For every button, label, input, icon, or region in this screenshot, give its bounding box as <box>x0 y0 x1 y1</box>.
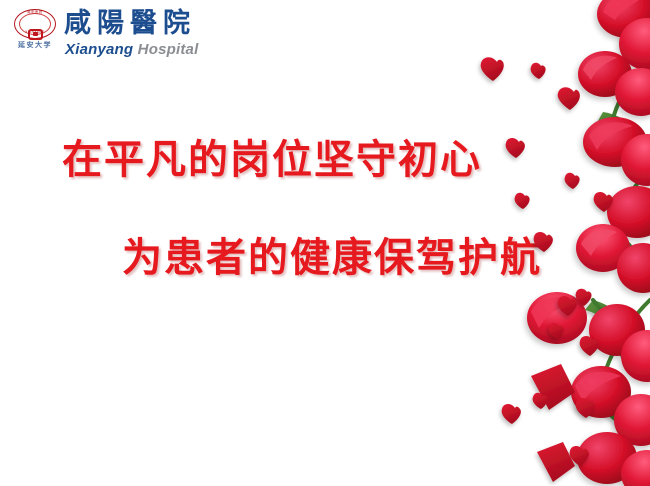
hospital-name-english-primary: Xianyang <box>65 41 133 58</box>
hospital-emblem-icon: 咸阳医院 XIANYANG 延安大学 <box>11 8 59 60</box>
hospital-name-english: Xianyang Hospital <box>65 42 198 57</box>
scattered-rose-petals <box>481 57 613 486</box>
red-rose-border-decoration <box>475 0 650 486</box>
slide-canvas: 咸阳医院 XIANYANG 延安大学 咸陽醫院 Xianyang Hospita… <box>0 0 650 486</box>
emblem-bottom-text: XIANYANG <box>11 31 59 34</box>
emblem-subtitle-text: 延安大学 <box>11 42 59 49</box>
hospital-name-chinese: 咸陽醫院 <box>64 9 196 37</box>
headline-line-1: 在平凡的岗位坚守初心 <box>62 140 482 180</box>
hospital-name-english-secondary: Hospital <box>138 41 199 58</box>
emblem-top-text: 咸阳医院 <box>11 11 59 14</box>
hospital-logo: 咸阳医院 XIANYANG 延安大学 咸陽醫院 Xianyang Hospita… <box>8 6 238 62</box>
